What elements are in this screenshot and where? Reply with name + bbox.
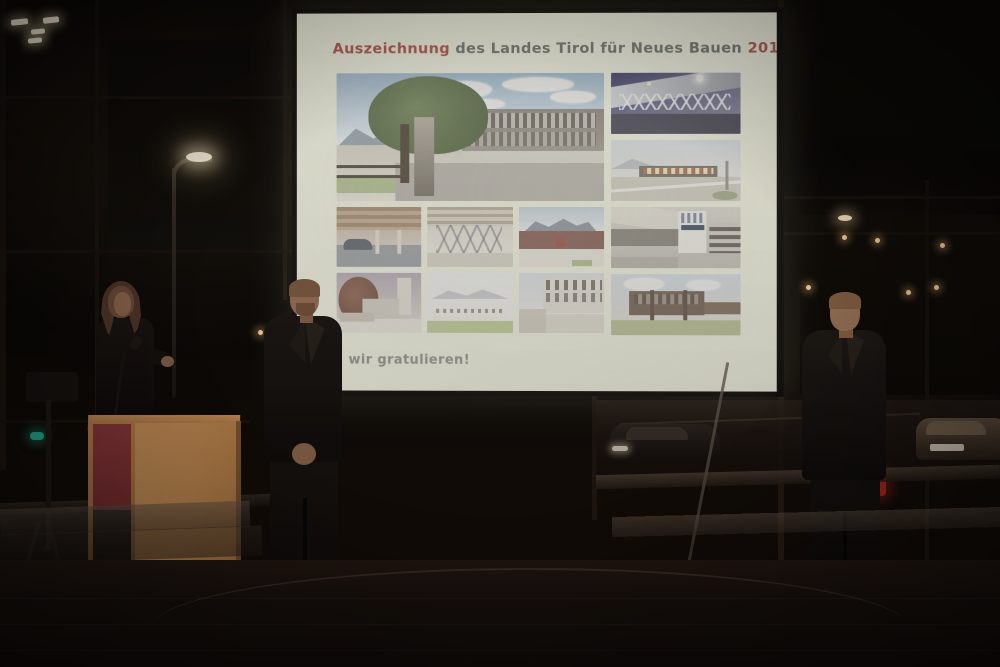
distant-light [842, 235, 847, 240]
lectern-red-panel [93, 424, 131, 510]
slide-title-accent-one: Auszeichnung [333, 41, 450, 57]
video-camera-on-tripod [26, 372, 78, 402]
right-man-jacket [802, 330, 886, 480]
glass-transom [0, 250, 292, 253]
tile-white-school-meadow [428, 273, 513, 333]
tile-long-school-facade [519, 273, 604, 333]
tile-red-wall-mountain-view [519, 207, 604, 267]
floor-plank-line [0, 598, 1000, 599]
street-lamp-arm [172, 158, 212, 188]
glass-mullion [0, 0, 6, 470]
camera-led-indicator [30, 432, 44, 440]
tile-night-bridge-lit [611, 73, 740, 134]
glass-transom [0, 96, 300, 99]
slide-title-year: 2018 [748, 40, 777, 56]
photo-grid-main-column [337, 73, 604, 338]
distant-light [258, 330, 263, 335]
glass-mullion [283, 0, 287, 300]
center-man-beard [296, 303, 315, 316]
photo-grid-row [337, 207, 604, 267]
parked-car-left [610, 424, 720, 462]
tile-timber-shelter-field [611, 274, 740, 335]
car-window [926, 421, 986, 435]
center-man-clasped-hands [292, 443, 316, 465]
tile-roadside-pavilion [611, 140, 740, 201]
tile-apartment-block-ramp [611, 207, 740, 268]
tile-hillside-town-tower [337, 273, 422, 333]
slide-title-neutral: des Landes Tirol für Neues Bauen [450, 41, 748, 58]
speaker-hand [161, 356, 174, 367]
street-lamp-head [186, 152, 212, 162]
tile-underpass-carpark [337, 207, 422, 267]
photo-grid-side-column [611, 73, 740, 339]
center-man-hair [289, 279, 320, 297]
car-window [626, 427, 688, 440]
parked-car-right [916, 418, 1000, 460]
speaker-torso [96, 318, 154, 426]
distant-light [940, 243, 945, 248]
distant-lamp [838, 215, 852, 221]
car-licence-plate [930, 444, 964, 451]
slide-footer-text: wir gratulieren! [349, 353, 470, 368]
slide-title: Auszeichnung des Landes Tirol für Neues … [333, 40, 777, 57]
tile-canopy-steel-structure [428, 207, 513, 267]
glass-transom [780, 196, 1000, 199]
distant-light [934, 285, 939, 290]
distant-light [806, 285, 811, 290]
floor-plank-line [0, 650, 1000, 651]
photo-grid-row [337, 273, 604, 333]
projection-screen: Auszeichnung des Landes Tirol für Neues … [292, 7, 784, 396]
right-man-hair [829, 292, 861, 309]
tile-school-building-with-tree [337, 73, 604, 201]
distant-light [875, 238, 880, 243]
distant-light [906, 290, 911, 295]
slide-photo-grid [337, 73, 741, 339]
photo-art [337, 73, 604, 201]
glass-mullion [925, 180, 929, 560]
car-headlight [612, 446, 628, 451]
speaker-face [114, 292, 131, 316]
background-building-left [108, 40, 286, 250]
photo-scene: Auszeichnung des Landes Tirol für Neues … [0, 0, 1000, 667]
presentation-slide: Auszeichnung des Landes Tirol für Neues … [297, 12, 777, 391]
floor-plank-line [0, 624, 1000, 625]
